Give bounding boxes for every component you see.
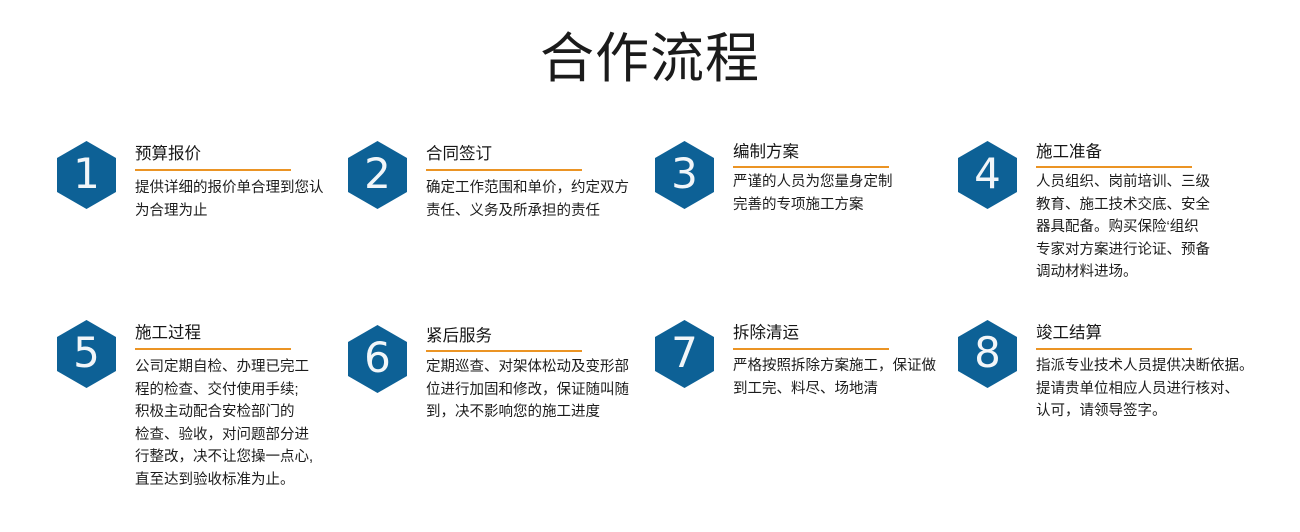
- step-item-3: 3 编制方案 严谨的人员为您量身定制 完善的专项施工方案: [655, 141, 893, 216]
- step-number-3: 3: [671, 153, 698, 195]
- step-underline-8: [1036, 348, 1192, 350]
- step-number-1: 1: [73, 153, 100, 195]
- step-title-7: 拆除清运: [733, 322, 936, 344]
- hexagon-badge-4: 4: [958, 141, 1017, 209]
- step-number-4: 4: [974, 153, 1001, 195]
- step-number-8: 8: [974, 332, 1001, 374]
- step-item-4: 4 施工准备 人员组织、岗前培训、三级 教育、施工技术交底、安全 器具配备。购买…: [958, 141, 1210, 284]
- step-underline-3: [733, 166, 889, 168]
- hexagon-badge-7: 7: [655, 320, 714, 388]
- step-description-1: 提供详细的报价单合理到您认 为合理为止: [135, 177, 324, 222]
- step-item-2: 2 合同签订 确定工作范围和单价，约定双方 责任、义务及所承担的责任: [348, 141, 629, 222]
- step-underline-6: [426, 350, 582, 352]
- step-item-8: 8 竣工结算 指派专业技术人员提供决断依据。 提请贵单位相应人员进行核对、 认可…: [958, 320, 1254, 423]
- hexagon-badge-8: 8: [958, 320, 1017, 388]
- step-content-7: 拆除清运 严格按照拆除方案施工，保证做 到工完、料尽、场地清: [733, 320, 936, 400]
- step-content-6: 紧后服务 定期巡查、对架体松动及变形部 位进行加固和修改，保证随叫随 到，决不影…: [426, 325, 629, 424]
- step-underline-2: [426, 169, 582, 171]
- step-underline-1: [135, 169, 291, 171]
- step-item-5: 5 施工过程 公司定期自检、办理已完工 程的检查、交付使用手续; 积极主动配合安…: [57, 320, 313, 491]
- step-title-4: 施工准备: [1036, 141, 1210, 163]
- hexagon-badge-6: 6: [348, 325, 407, 393]
- step-item-6: 6 紧后服务 定期巡查、对架体松动及变形部 位进行加固和修改，保证随叫随 到，决…: [348, 325, 629, 424]
- step-title-3: 编制方案: [733, 141, 893, 163]
- hexagon-badge-1: 1: [57, 141, 116, 209]
- step-content-4: 施工准备 人员组织、岗前培训、三级 教育、施工技术交底、安全 器具配备。购买保险…: [1036, 141, 1210, 284]
- step-title-1: 预算报价: [135, 143, 324, 165]
- step-content-2: 合同签订 确定工作范围和单价，约定双方 责任、义务及所承担的责任: [426, 141, 629, 222]
- step-underline-5: [135, 348, 291, 350]
- step-content-3: 编制方案 严谨的人员为您量身定制 完善的专项施工方案: [733, 141, 893, 216]
- step-title-6: 紧后服务: [426, 325, 629, 347]
- step-title-5: 施工过程: [135, 322, 313, 344]
- step-description-4: 人员组织、岗前培训、三级 教育、施工技术交底、安全 器具配备。购买保险‘组织 专…: [1036, 171, 1210, 284]
- step-content-8: 竣工结算 指派专业技术人员提供决断依据。 提请贵单位相应人员进行核对、 认可，请…: [1036, 320, 1254, 423]
- step-description-3: 严谨的人员为您量身定制 完善的专项施工方案: [733, 171, 893, 216]
- step-title-8: 竣工结算: [1036, 322, 1254, 344]
- step-description-2: 确定工作范围和单价，约定双方 责任、义务及所承担的责任: [426, 177, 629, 222]
- step-number-6: 6: [364, 337, 391, 379]
- step-number-5: 5: [73, 332, 100, 374]
- step-content-1: 预算报价 提供详细的报价单合理到您认 为合理为止: [135, 141, 324, 222]
- hexagon-badge-3: 3: [655, 141, 714, 209]
- step-description-6: 定期巡查、对架体松动及变形部 位进行加固和修改，保证随叫随 到，决不影响您的施工…: [426, 356, 629, 424]
- step-item-7: 7 拆除清运 严格按照拆除方案施工，保证做 到工完、料尽、场地清: [655, 320, 936, 400]
- step-description-8: 指派专业技术人员提供决断依据。 提请贵单位相应人员进行核对、 认可，请领导签字。: [1036, 355, 1254, 423]
- step-number-2: 2: [364, 153, 391, 195]
- step-underline-4: [1036, 166, 1192, 168]
- step-number-7: 7: [671, 332, 698, 374]
- step-title-2: 合同签订: [426, 143, 629, 165]
- hexagon-badge-2: 2: [348, 141, 407, 209]
- process-steps-grid: 1 预算报价 提供详细的报价单合理到您认 为合理为止 2 合同签订 确定工作范围…: [0, 0, 1300, 532]
- step-item-1: 1 预算报价 提供详细的报价单合理到您认 为合理为止: [57, 141, 324, 222]
- step-description-5: 公司定期自检、办理已完工 程的检查、交付使用手续; 积极主动配合安检部门的 检查…: [135, 356, 313, 491]
- step-content-5: 施工过程 公司定期自检、办理已完工 程的检查、交付使用手续; 积极主动配合安检部…: [135, 320, 313, 491]
- step-description-7: 严格按照拆除方案施工，保证做 到工完、料尽、场地清: [733, 355, 936, 400]
- step-underline-7: [733, 348, 889, 350]
- hexagon-badge-5: 5: [57, 320, 116, 388]
